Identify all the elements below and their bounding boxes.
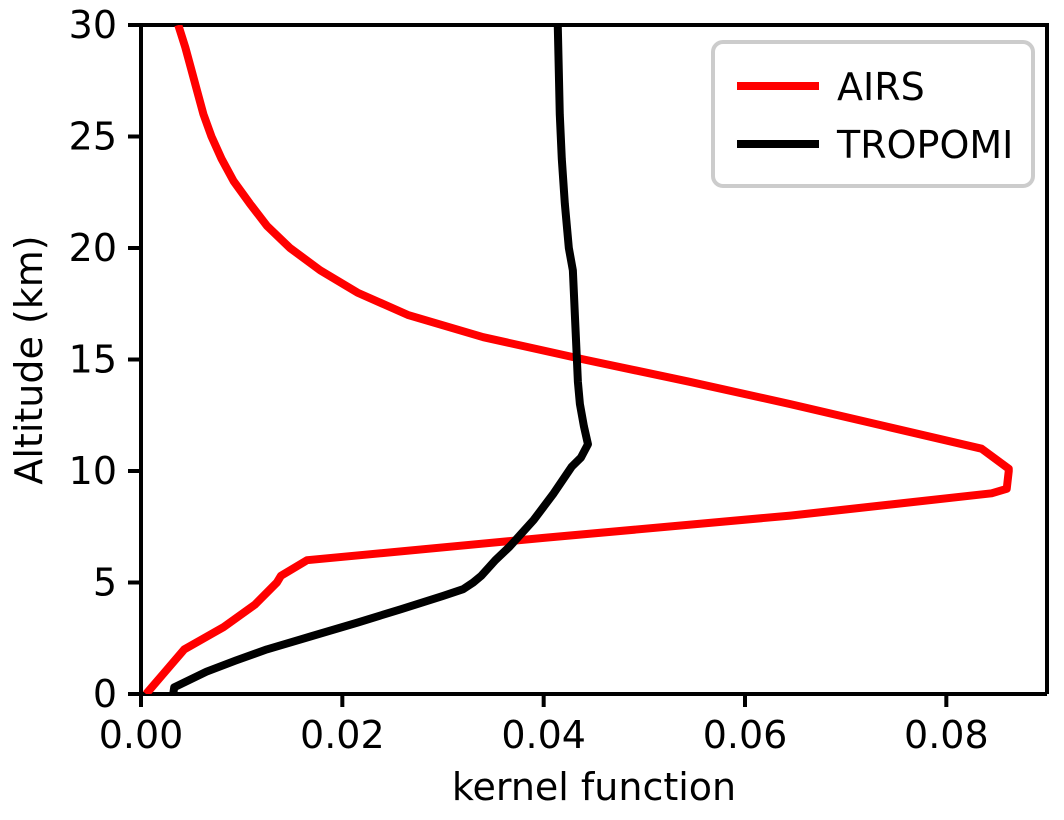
x-tick-label: 0.02 — [300, 713, 385, 757]
series-line-tropomi — [173, 25, 588, 694]
y-tick-label: 5 — [93, 561, 117, 605]
y-axis-ticks: 051015202530 — [69, 3, 141, 716]
y-axis-title: Altitude (km) — [7, 235, 51, 484]
x-tick-label: 0.04 — [501, 713, 586, 757]
y-tick-label: 25 — [69, 115, 117, 159]
y-tick-label: 30 — [69, 3, 117, 47]
y-tick-label: 10 — [69, 449, 117, 493]
x-tick-label: 0.06 — [703, 713, 788, 757]
x-tick-label: 0.08 — [904, 713, 989, 757]
legend-label-airs: AIRS — [837, 65, 925, 109]
y-tick-label: 20 — [69, 226, 117, 270]
kernel-function-profile-chart: 0.000.020.040.060.08 051015202530 kernel… — [0, 0, 1064, 820]
y-tick-label: 15 — [69, 338, 117, 382]
x-axis-title: kernel function — [452, 765, 736, 809]
x-tick-label: 0.00 — [99, 713, 184, 757]
y-tick-label: 0 — [93, 672, 117, 716]
chart-figure: 0.000.020.040.060.08 051015202530 kernel… — [0, 0, 1064, 820]
legend-label-tropomi: TROPOMI — [836, 123, 1013, 167]
x-axis-ticks: 0.000.020.040.060.08 — [99, 694, 989, 757]
chart-legend[interactable]: AIRSTROPOMI — [713, 42, 1033, 186]
